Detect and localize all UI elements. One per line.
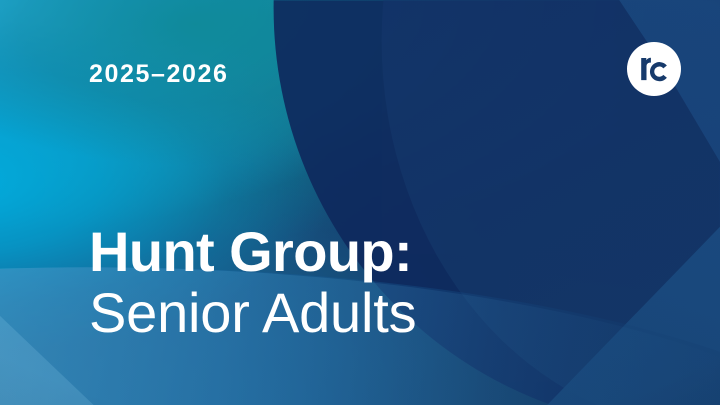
page-title-primary: Hunt Group:: [89, 222, 416, 281]
rc-circle-logo: [627, 42, 681, 96]
slide-content: 2025–2026 Hunt Group: Senior Adults: [0, 0, 720, 405]
page-title-secondary: Senior Adults: [89, 283, 416, 343]
title-slide: 2025–2026 Hunt Group: Senior Adults: [0, 0, 720, 405]
page-title: Hunt Group: Senior Adults: [89, 222, 416, 344]
season-label: 2025–2026: [89, 62, 229, 87]
